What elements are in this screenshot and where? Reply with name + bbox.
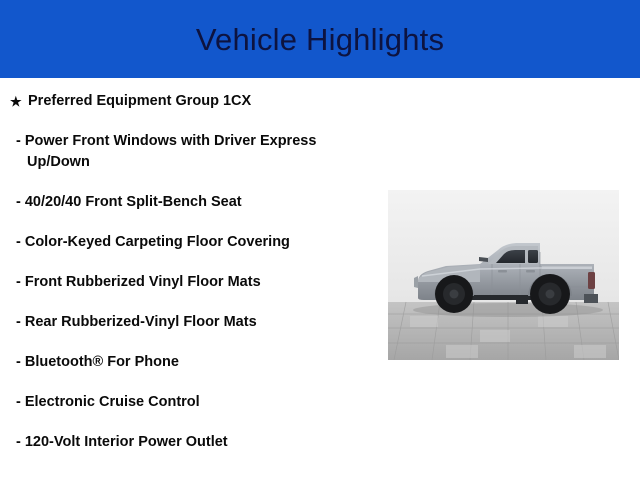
page-title: Vehicle Highlights [0, 0, 640, 78]
content-area: ★ Preferred Equipment Group 1CX - Power … [0, 78, 640, 480]
vehicle-photo-image [388, 190, 619, 360]
list-item: - Power Front Windows with Driver Expres… [0, 131, 380, 173]
list-item: - Rear Rubberized-Vinyl Floor Mats [0, 312, 380, 333]
feature-list: ★ Preferred Equipment Group 1CX - Power … [0, 78, 380, 453]
star-bullet-icon: ★ [10, 91, 22, 112]
list-item: - 120-Volt Interior Power Outlet [0, 432, 380, 453]
list-item: - Color-Keyed Carpeting Floor Covering [0, 232, 380, 253]
slide: Vehicle Highlights ★ Preferred Equipment… [0, 0, 640, 480]
list-item: - 40/20/40 Front Split-Bench Seat [0, 192, 380, 213]
list-item-group: ★ Preferred Equipment Group 1CX [0, 91, 380, 112]
group-label: Preferred Equipment Group 1CX [28, 93, 251, 109]
list-item: - Bluetooth® For Phone [0, 352, 380, 373]
vehicle-photo [388, 190, 619, 360]
list-item: - Electronic Cruise Control [0, 392, 380, 413]
list-item: - Front Rubberized Vinyl Floor Mats [0, 272, 380, 293]
